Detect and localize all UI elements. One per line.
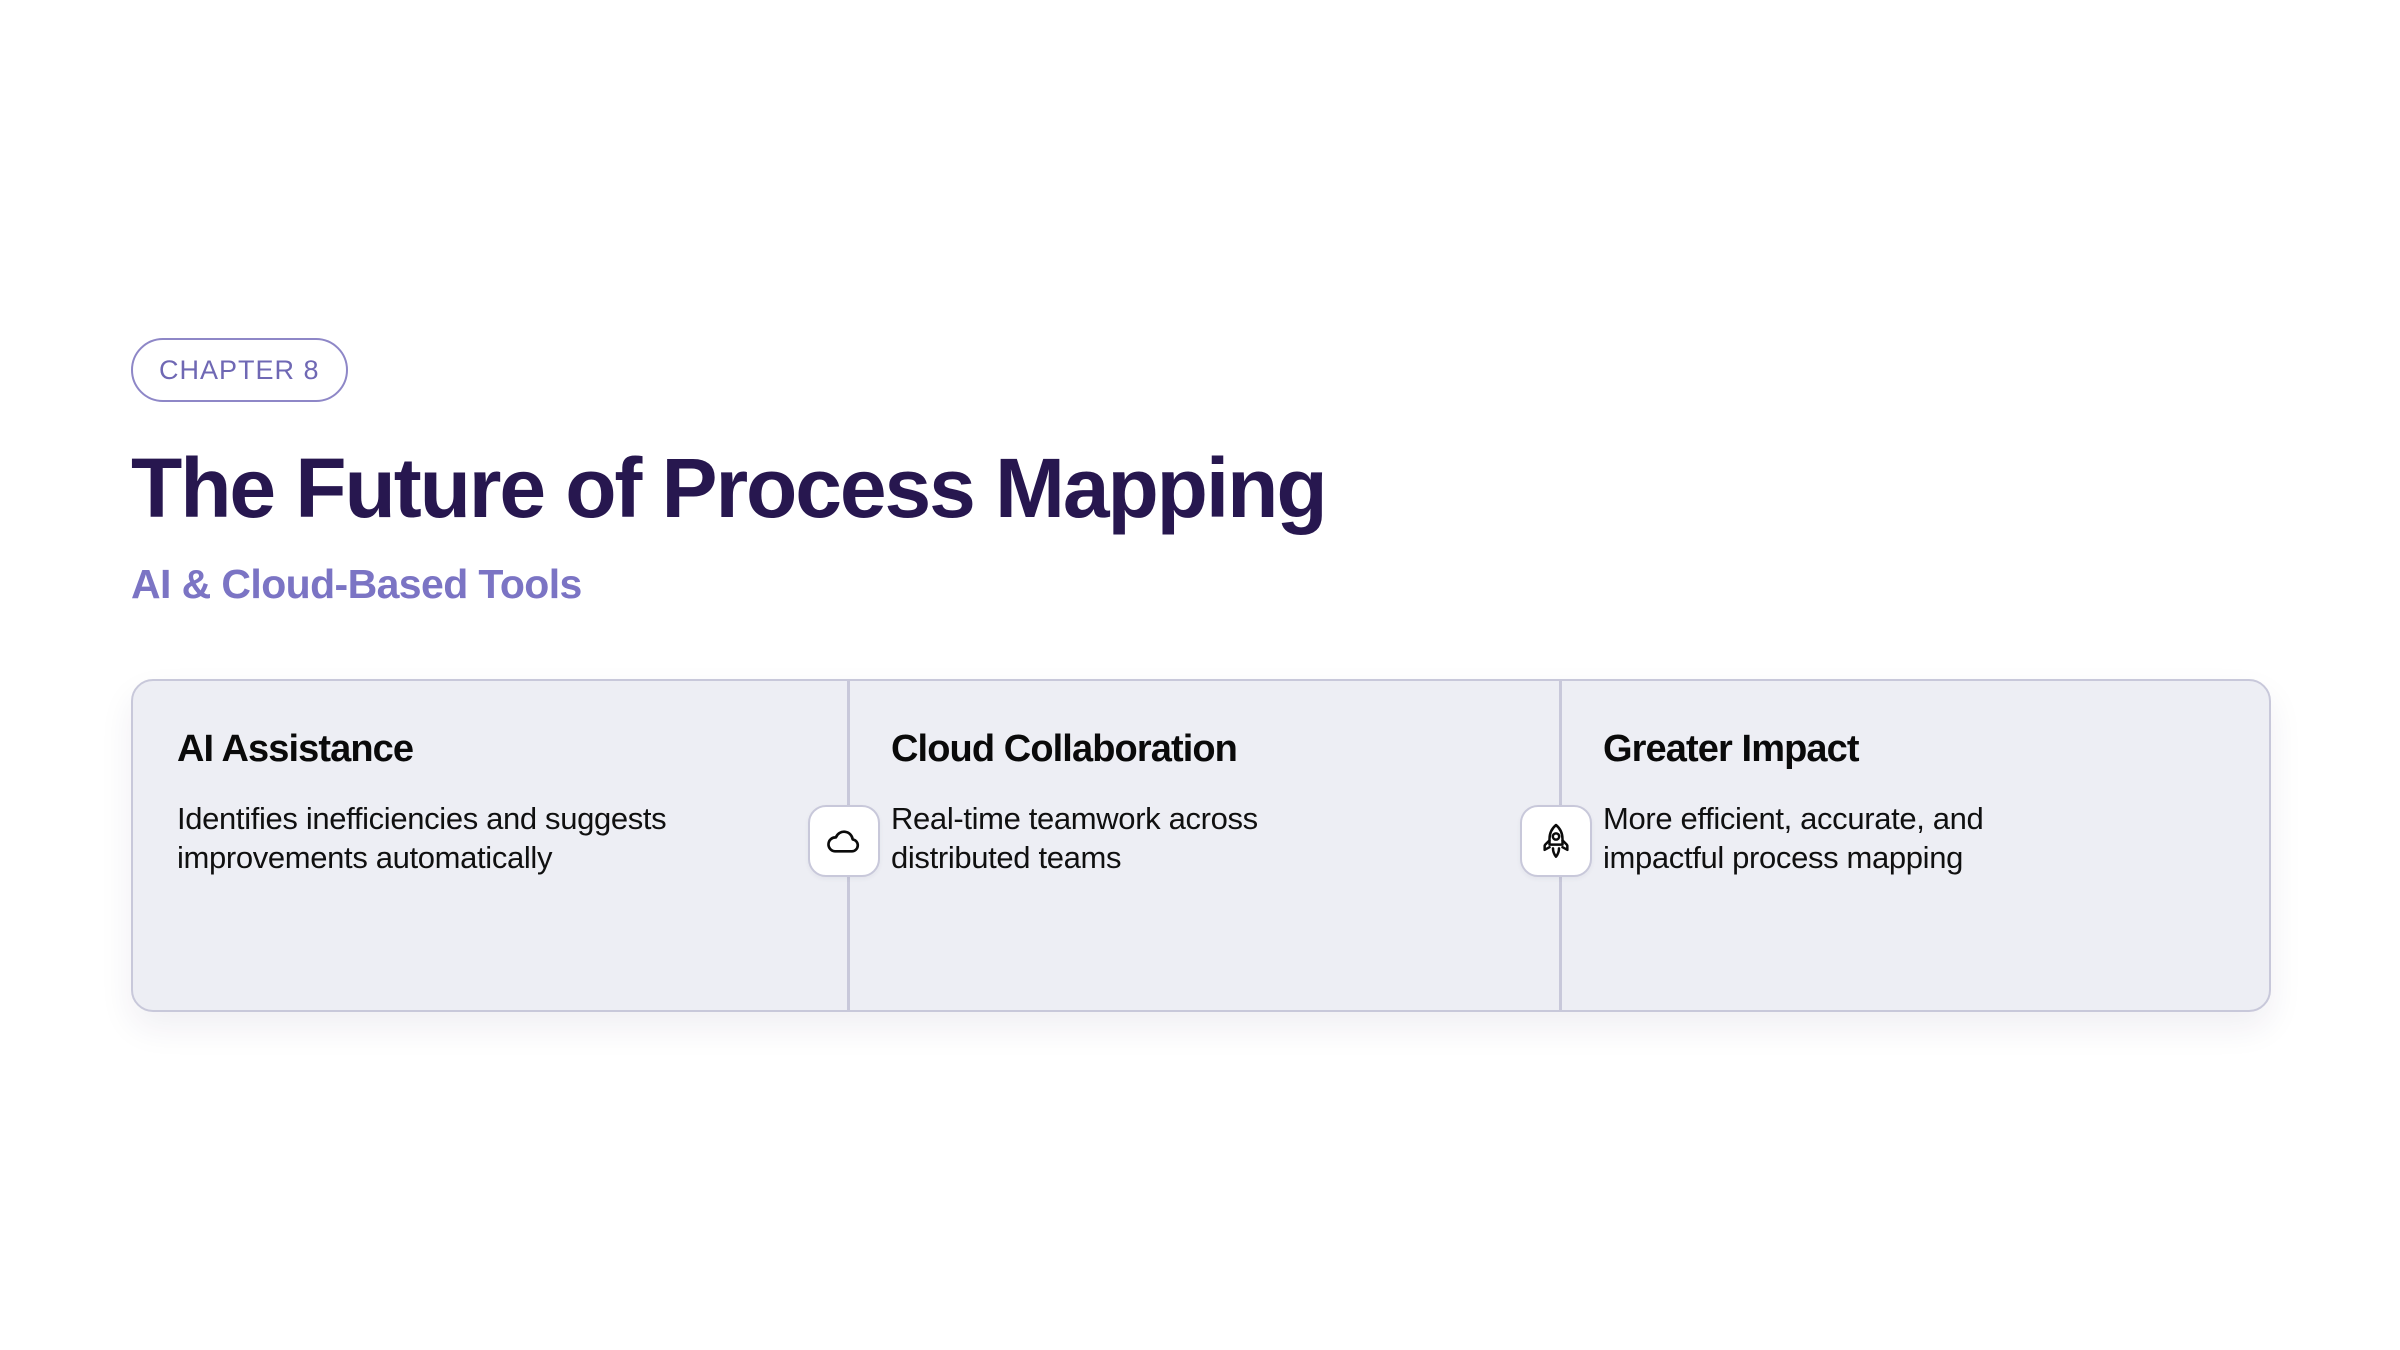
panel-title: Greater Impact [1603, 728, 2229, 772]
panel-title: Cloud Collaboration [891, 728, 1519, 772]
chapter-badge-label: CHAPTER 8 [159, 357, 320, 384]
connector-badge-cloud [808, 805, 880, 877]
panel-description: More efficient, accurate, and impactful … [1603, 799, 2093, 878]
page-subtitle: AI & Cloud-Based Tools [131, 562, 2271, 607]
chapter-badge: CHAPTER 8 [131, 338, 348, 402]
panel-ai-assistance: AI Assistance Identifies inefficiencies … [133, 681, 847, 1010]
rocket-icon [1536, 821, 1576, 861]
cloud-icon [824, 821, 864, 861]
panel-title: AI Assistance [177, 728, 807, 772]
panel-description: Real-time teamwork across distributed te… [891, 799, 1381, 878]
connector-badge-rocket [1520, 805, 1592, 877]
header-block: CHAPTER 8 The Future of Process Mapping … [131, 338, 2271, 607]
panel-cloud-collaboration: Cloud Collaboration Real-time teamwork a… [847, 681, 1559, 1010]
panels-card: AI Assistance Identifies inefficiencies … [131, 679, 2271, 1012]
panel-description: Identifies inefficiencies and suggests i… [177, 799, 667, 878]
slide-root: CHAPTER 8 The Future of Process Mapping … [0, 0, 2400, 1350]
page-title: The Future of Process Mapping [131, 445, 2271, 532]
panel-greater-impact: Greater Impact More efficient, accurate,… [1559, 681, 2269, 1010]
